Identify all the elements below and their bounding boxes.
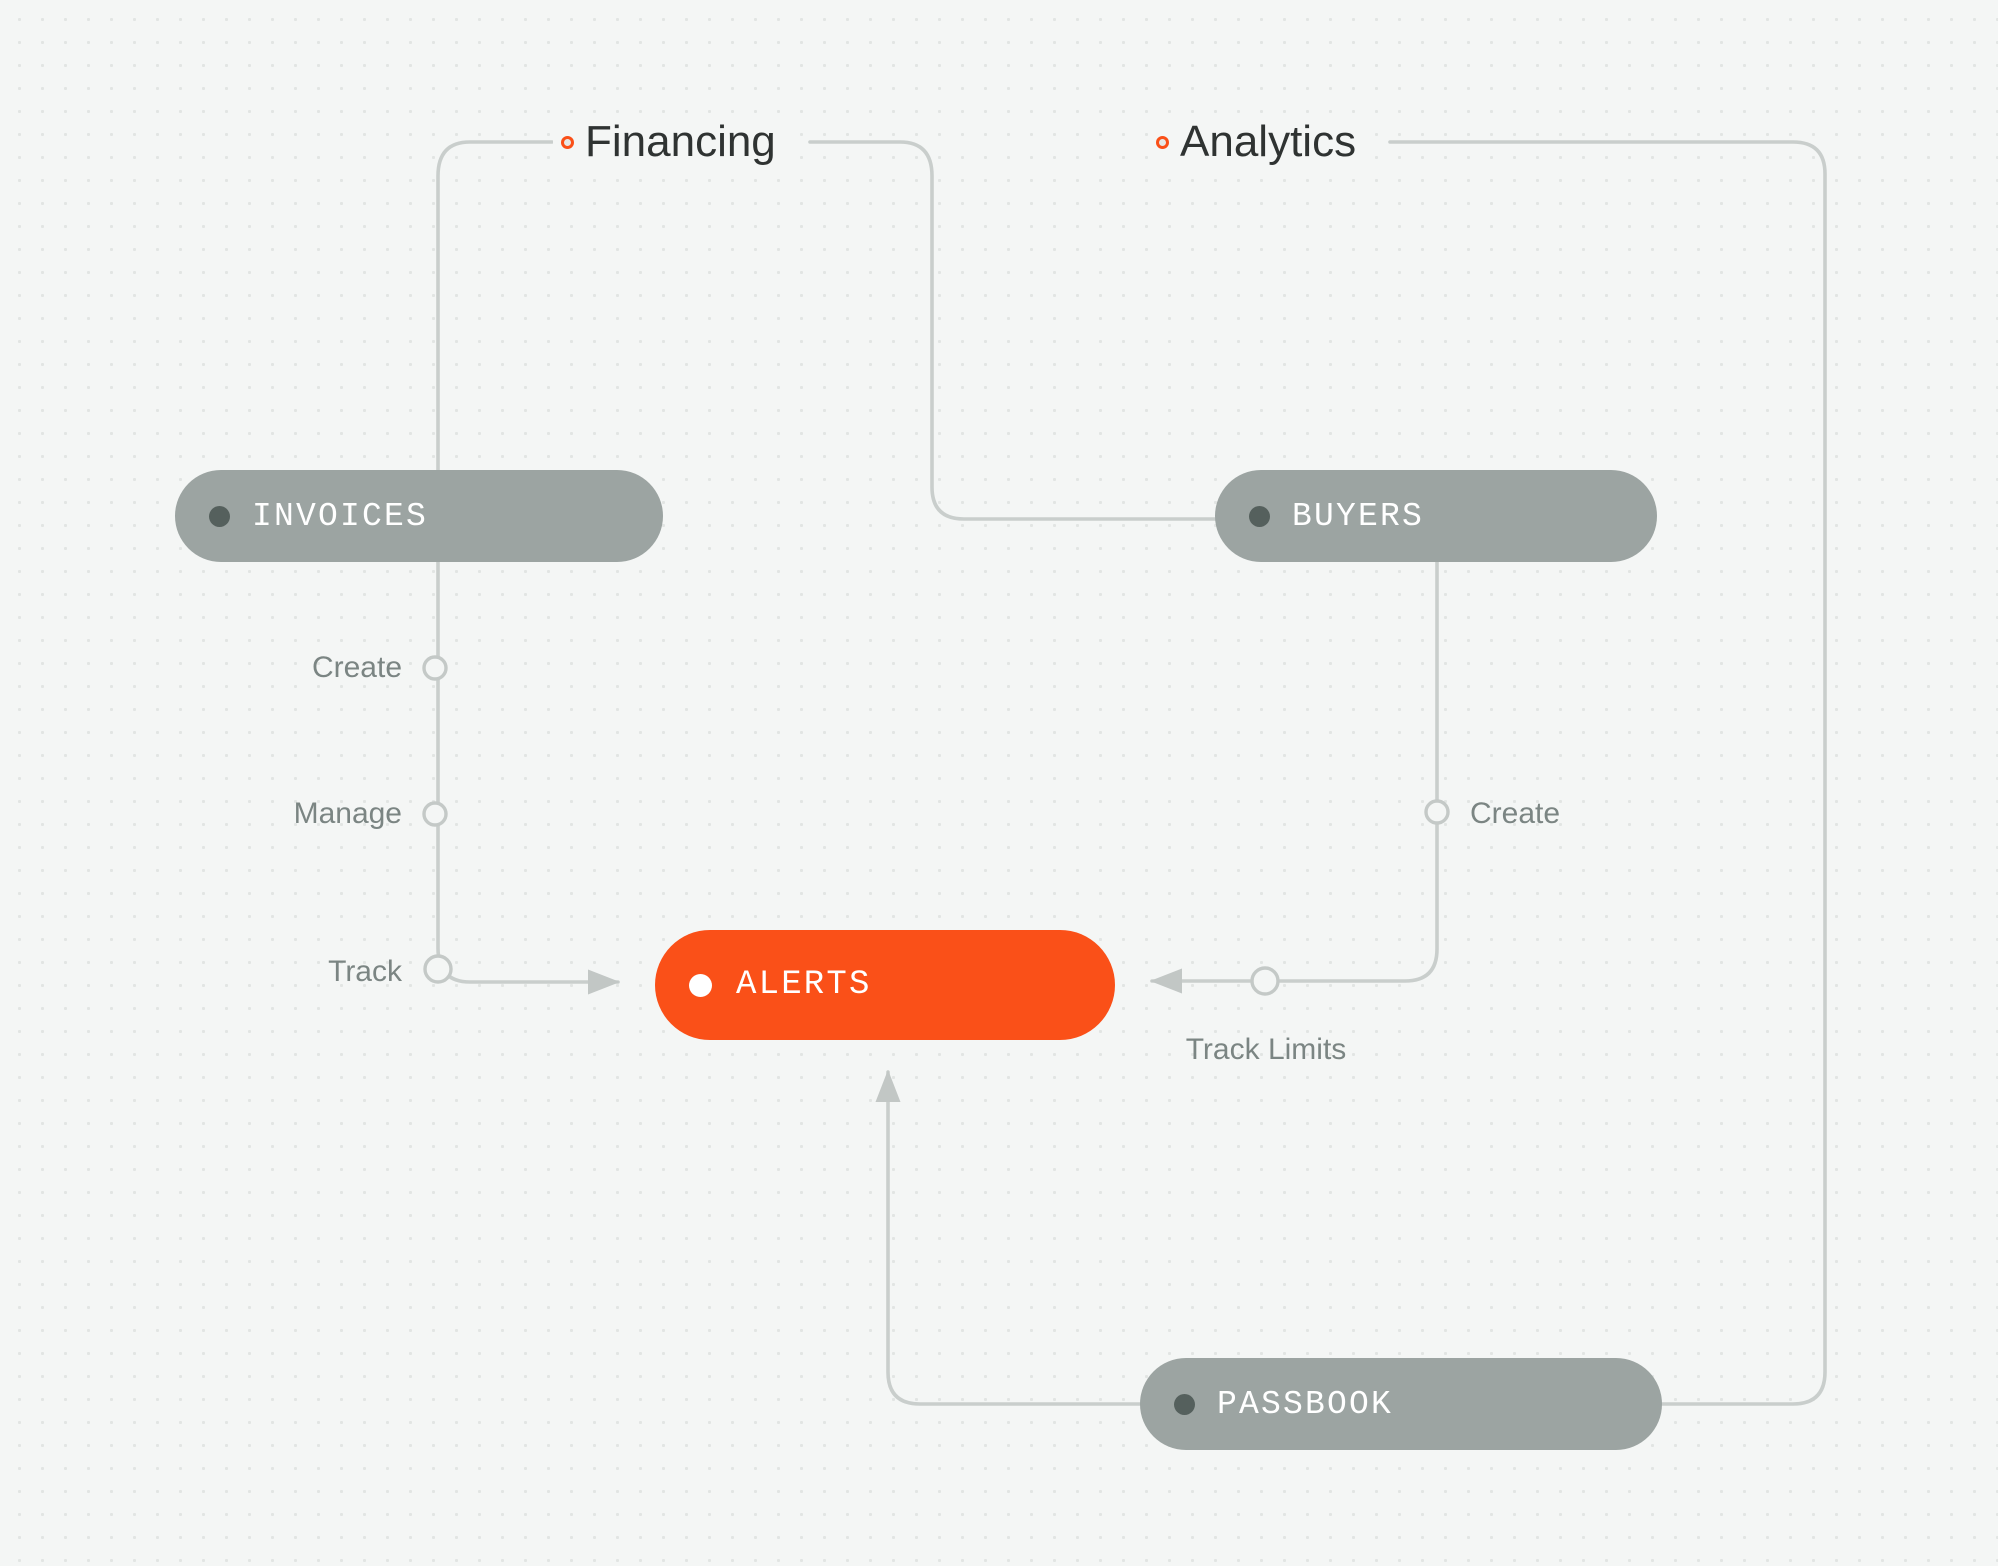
node-label: PASSBOOK [1217, 1386, 1393, 1423]
marker-track-limits [1252, 968, 1278, 994]
marker-invoices-manage [424, 803, 446, 825]
node-label: INVOICES [252, 498, 428, 535]
group-label-text: Analytics [1180, 117, 1356, 167]
node-buyers[interactable]: BUYERS [1215, 470, 1657, 562]
node-dot-icon [1174, 1394, 1195, 1415]
edge-label-invoices-create: Create [312, 651, 402, 685]
node-alerts[interactable]: ALERTS [655, 930, 1115, 1040]
edge-passbook-to-alerts [888, 1072, 1140, 1404]
marker-invoices-create [424, 657, 446, 679]
diagram-canvas: Financing Analytics INVOICES BUYERS ALER… [0, 0, 1998, 1566]
edge-label-invoices-track: Track [328, 955, 402, 989]
edge-invoices-to-alerts [438, 562, 618, 982]
edge-label-track-limits: Track Limits [1186, 1033, 1347, 1067]
node-passbook[interactable]: PASSBOOK [1140, 1358, 1662, 1450]
group-label-financing[interactable]: Financing [553, 117, 784, 167]
edge-label-buyers-create: Create [1470, 797, 1560, 831]
node-dot-icon [209, 506, 230, 527]
marker-invoices-track [425, 956, 451, 982]
edge-label-invoices-manage: Manage [294, 797, 402, 831]
edge-financing-to-buyers [810, 142, 1215, 519]
marker-buyers-create [1426, 801, 1448, 823]
node-invoices[interactable]: INVOICES [175, 470, 663, 562]
node-dot-icon [689, 974, 712, 997]
edge-buyers-to-alerts [1152, 562, 1437, 981]
group-label-analytics[interactable]: Analytics [1148, 117, 1364, 167]
edge-financing-to-invoices [438, 142, 552, 470]
node-label: BUYERS [1292, 498, 1424, 535]
ring-marker-icon [561, 136, 574, 149]
group-label-text: Financing [585, 117, 776, 167]
node-dot-icon [1249, 506, 1270, 527]
node-label: ALERTS [736, 966, 872, 1004]
edge-analytics-to-passbook [1390, 142, 1825, 1404]
ring-marker-icon [1156, 136, 1169, 149]
edge-layer [0, 0, 1998, 1566]
